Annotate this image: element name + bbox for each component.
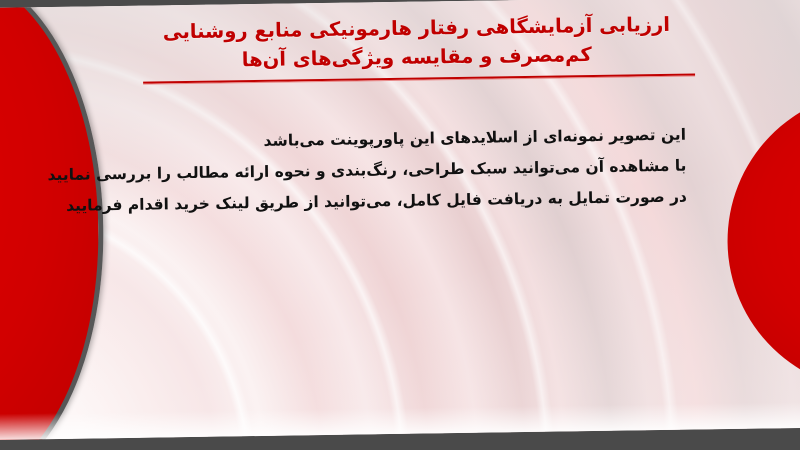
slide-canvas: ارزیابی آزمایشگاهی رفتار هارمونیکی منابع… [0, 0, 800, 440]
slide-body-text: این تصویر نمونه‌ای از اسلایدهای این پاور… [126, 120, 687, 221]
slide-title: ارزیابی آزمایشگاهی رفتار هارمونیکی منابع… [136, 9, 697, 75]
slide-canvas-clip: ارزیابی آزمایشگاهی رفتار هارمونیکی منابع… [0, 0, 800, 450]
presentation-slide: ارزیابی آزمایشگاهی رفتار هارمونیکی منابع… [0, 0, 800, 450]
